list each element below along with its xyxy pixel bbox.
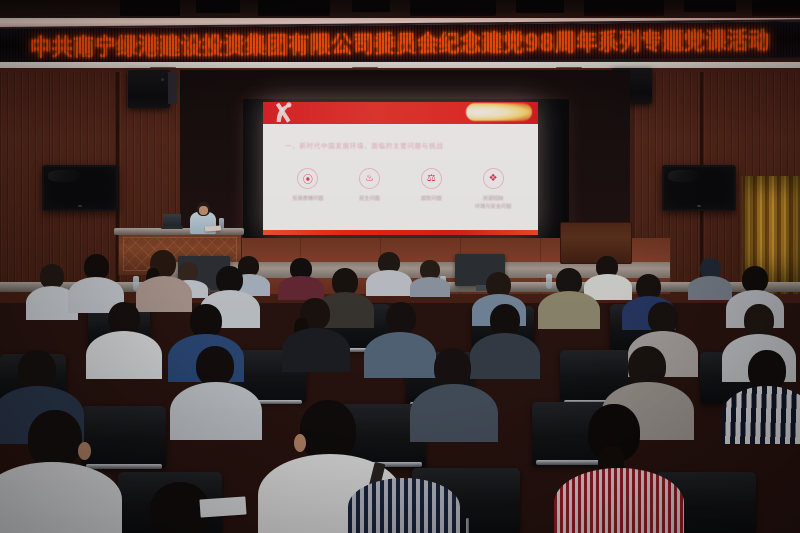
- slide-item-3-caption: 腐败问题: [421, 196, 442, 204]
- slide-item-4: ❖ 资源短缺 环境与安全问题: [466, 168, 520, 211]
- attendee-body-r4-4: [722, 386, 800, 444]
- slide-header-bar: [263, 102, 538, 124]
- slide-bottom-band: [263, 230, 538, 235]
- imac-stand-right: [476, 285, 486, 291]
- handshake-icon: ♨: [359, 168, 380, 189]
- attendee-ear-fg-2: [294, 434, 306, 452]
- attendee-body-b7: [688, 276, 732, 300]
- notebook-fg: [199, 496, 246, 517]
- speaker-bracket-left: [168, 72, 177, 104]
- attendee-body-r3-1: [86, 331, 162, 379]
- slide-title: 一、新时代中国发展环境、面临的主要问题与挑战: [285, 140, 515, 150]
- attendee-head-r2-8: [742, 266, 768, 293]
- slide-icon-row: ⦿ 贸易摩擦问题 ♨ 民生问题 ⚖ 腐败问题 ❖ 资源短缺 环境与安全问题: [263, 168, 538, 211]
- led-banner: 中共南宁绿港建设投资集团有限公司委员会纪念建党98周年系列专题党课活动: [0, 19, 800, 67]
- attendee-body-b3: [278, 276, 324, 300]
- podium-left-top: [114, 228, 244, 235]
- attendee-head-r3-5: [490, 304, 520, 336]
- attendee-body-b4: [366, 270, 412, 296]
- attendee-body-r2-2: [136, 276, 192, 312]
- chair-rail-r4-1: [86, 464, 162, 469]
- attendee-body-r2-5: [538, 291, 600, 329]
- slide-item-3: ⚖ 腐败问题: [404, 168, 458, 211]
- slide-item-1: ⦿ 贸易摩擦问题: [281, 168, 335, 211]
- attendee-head-r4-0: [18, 350, 56, 390]
- wall-tv-right: [662, 165, 736, 211]
- audience-area: [0, 246, 800, 533]
- attendee-body-fg-1: [0, 462, 122, 533]
- attendee-head-r3-7: [744, 304, 774, 337]
- hammer-and-sickle-icon: [271, 102, 297, 126]
- bottle-d: [546, 274, 552, 289]
- attendee-ear-fg-1: [78, 442, 91, 460]
- attendee-head-r4-2: [434, 348, 471, 388]
- lecturer-laptop-base: [161, 226, 183, 229]
- conference-hall-photo: 中共南宁绿港建设投资集团有限公司委员会纪念建党98周年系列专题党课活动: [0, 0, 800, 533]
- shield-icon: ⦿: [297, 168, 318, 189]
- chair-r4-1: [82, 406, 166, 468]
- ceiling-speaker-left: [128, 70, 170, 108]
- attendee-body-fg-6: [348, 478, 460, 533]
- hand-care-icon: ⚖: [421, 168, 442, 189]
- attendee-head-r4-3: [628, 346, 666, 387]
- slide-item-2: ♨ 民生问题: [343, 168, 397, 211]
- attendee-head-r4-4: [748, 350, 786, 391]
- attendee-head-r3-4: [386, 302, 416, 335]
- lecturer-face: [199, 206, 208, 215]
- slide-item-2-caption: 民生问题: [359, 196, 380, 204]
- attendee-head-fg-1: [28, 410, 82, 468]
- projector-glare: [466, 103, 532, 121]
- slide-item-1-caption: 贸易摩擦问题: [292, 196, 323, 204]
- attendee-body-fg-3: [554, 468, 684, 533]
- eco-icon: ❖: [483, 168, 504, 189]
- slide-item-4-caption-2: 环境与安全问题: [475, 204, 511, 212]
- attendee-head-r3-6: [648, 302, 678, 334]
- projection-screen: 一、新时代中国发展环境、面临的主要问题与挑战 ⦿ 贸易摩擦问题 ♨ 民生问题 ⚖…: [263, 102, 538, 235]
- attendee-head-r4-1: [196, 346, 234, 386]
- attendee-body-b5: [410, 277, 450, 297]
- attendee-body-r3-5: [470, 333, 540, 379]
- chair-leg-fg-2: [466, 518, 469, 533]
- attendee-body-r4-1: [170, 382, 262, 440]
- attendee-head-fg-2: [300, 400, 356, 462]
- led-banner-text: 中共南宁绿港建设投资集团有限公司委员会纪念建党98周年系列专题党课活动: [30, 23, 770, 64]
- slide-item-4-caption: 资源短缺: [483, 196, 504, 204]
- wall-tv-left: [42, 165, 118, 211]
- attendee-head-r3-2: [190, 304, 222, 338]
